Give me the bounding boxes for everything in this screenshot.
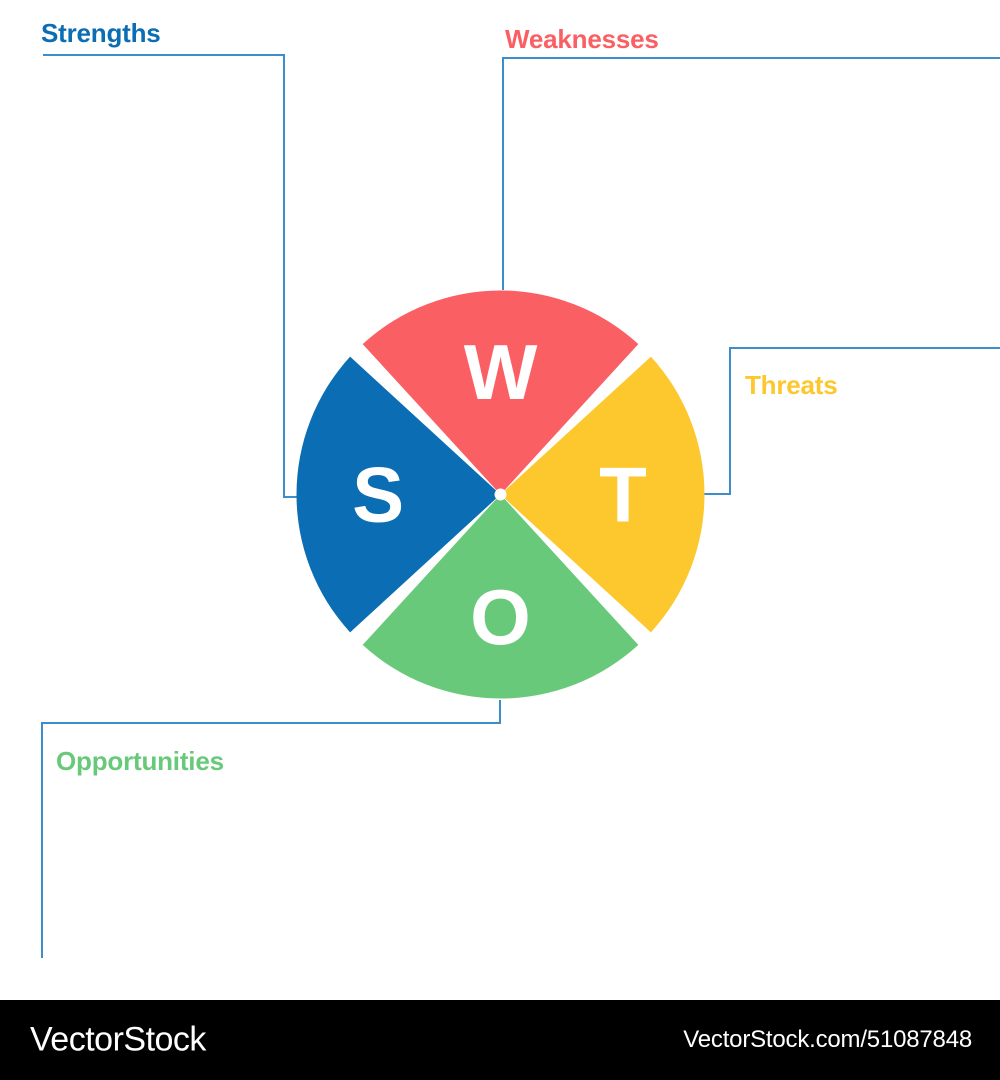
- label-threats: Threats: [745, 372, 838, 398]
- label-opportunities: Opportunities: [56, 748, 224, 774]
- connector-weaknesses: [503, 58, 1000, 290]
- swot-diagram-canvas: Strengths Weaknesses Threats Opportuniti…: [0, 0, 1000, 1080]
- wedge-letter-t: T: [599, 451, 647, 539]
- connector-opportunities: [42, 700, 500, 958]
- footer-brand: VectorStock: [30, 1021, 206, 1060]
- wedge-letter-w: W: [464, 328, 538, 416]
- watermark-footer: VectorStock VectorStock.com/51087848: [0, 1000, 1000, 1080]
- footer-url: VectorStock.com/51087848: [683, 1026, 972, 1054]
- connector-strengths: [43, 55, 300, 497]
- swot-wheel: S W T O: [296, 290, 705, 699]
- label-weaknesses: Weaknesses: [505, 26, 659, 52]
- label-strengths: Strengths: [41, 20, 161, 46]
- wedge-letter-o: O: [470, 573, 531, 661]
- wedge-letter-s: S: [352, 451, 404, 539]
